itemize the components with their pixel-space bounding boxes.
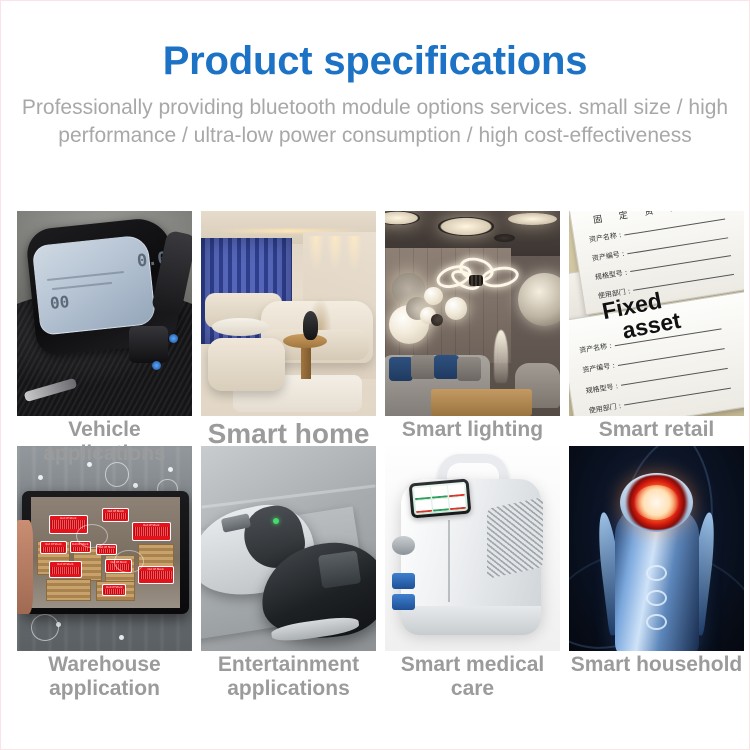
warehouse-ar-tablet-photo: Out Of Stock Out Of Stock Out Of Stock xyxy=(17,446,192,651)
dashboard-speed-secondary: 00 xyxy=(49,292,70,313)
out-of-stock-tag: Out Of Stock xyxy=(138,566,174,584)
caption-smart-household: Smart household xyxy=(571,653,743,677)
rf-beauty-device-photo xyxy=(569,446,744,651)
grid-cell-smart-lighting[interactable]: Smart lighting xyxy=(385,211,560,416)
caption-smart-lighting: Smart lighting xyxy=(402,418,543,442)
living-room-photo xyxy=(201,211,376,416)
caption-smart-retail: Smart retail xyxy=(599,418,715,442)
page-subtitle: Professionally providing bluetooth modul… xyxy=(1,94,749,149)
grid-cell-smart-retail[interactable]: 固 定 资 产 资产名称 : 资产编号 : 规格型号 : 使用 xyxy=(569,211,744,416)
out-of-stock-tag: Out Of Stock xyxy=(102,584,126,596)
out-of-stock-tag: Out Of Stock xyxy=(132,522,171,542)
lighting-showroom-photo xyxy=(385,211,560,416)
fixed-asset-tag-photo: 固 定 资 产 资产名称 : 资产编号 : 规格型号 : 使用 xyxy=(569,211,744,416)
grid-cell-smart-household[interactable]: Smart household xyxy=(569,446,744,651)
out-of-stock-tag: Out Of Stock xyxy=(40,541,67,553)
banner-header: Product specifications Professionally pr… xyxy=(1,1,749,149)
grid-cell-entertainment-applications[interactable]: Entertainment applications xyxy=(201,446,376,651)
grid-row: Out Of Stock Out Of Stock Out Of Stock xyxy=(17,446,735,651)
device-touchscreen xyxy=(408,478,470,518)
wireless-mice-photo xyxy=(201,446,376,651)
out-of-stock-tag: Out Of Stock xyxy=(49,561,82,578)
vehicle-dashboard-photo: 0.0 00 xyxy=(17,211,192,416)
out-of-stock-tag: Out Of Stock xyxy=(102,508,129,521)
grid-cell-smart-home[interactable]: Smart home xyxy=(201,211,376,416)
grid-cell-vehicle-applications[interactable]: 0.0 00 Vehicle applications xyxy=(17,211,192,416)
grid-row: 0.0 00 Vehicle applications xyxy=(17,211,735,416)
tablet-device: Out Of Stock Out Of Stock Out Of Stock xyxy=(22,491,188,614)
product-specifications-banner: Product specifications Professionally pr… xyxy=(1,1,749,749)
grid-cell-smart-medical-care[interactable]: Smart medical care xyxy=(385,446,560,651)
caption-entertainment-applications: Entertainment applications xyxy=(201,653,376,701)
grid-cell-warehouse-application[interactable]: Out Of Stock Out Of Stock Out Of Stock xyxy=(17,446,192,651)
caption-smart-medical-care: Smart medical care xyxy=(385,653,560,701)
caption-warehouse-application: Warehouse application xyxy=(17,653,192,701)
oxygen-concentrator-photo xyxy=(385,446,560,651)
application-grid: 0.0 00 Vehicle applications xyxy=(17,211,735,651)
page-title: Product specifications xyxy=(1,41,749,81)
